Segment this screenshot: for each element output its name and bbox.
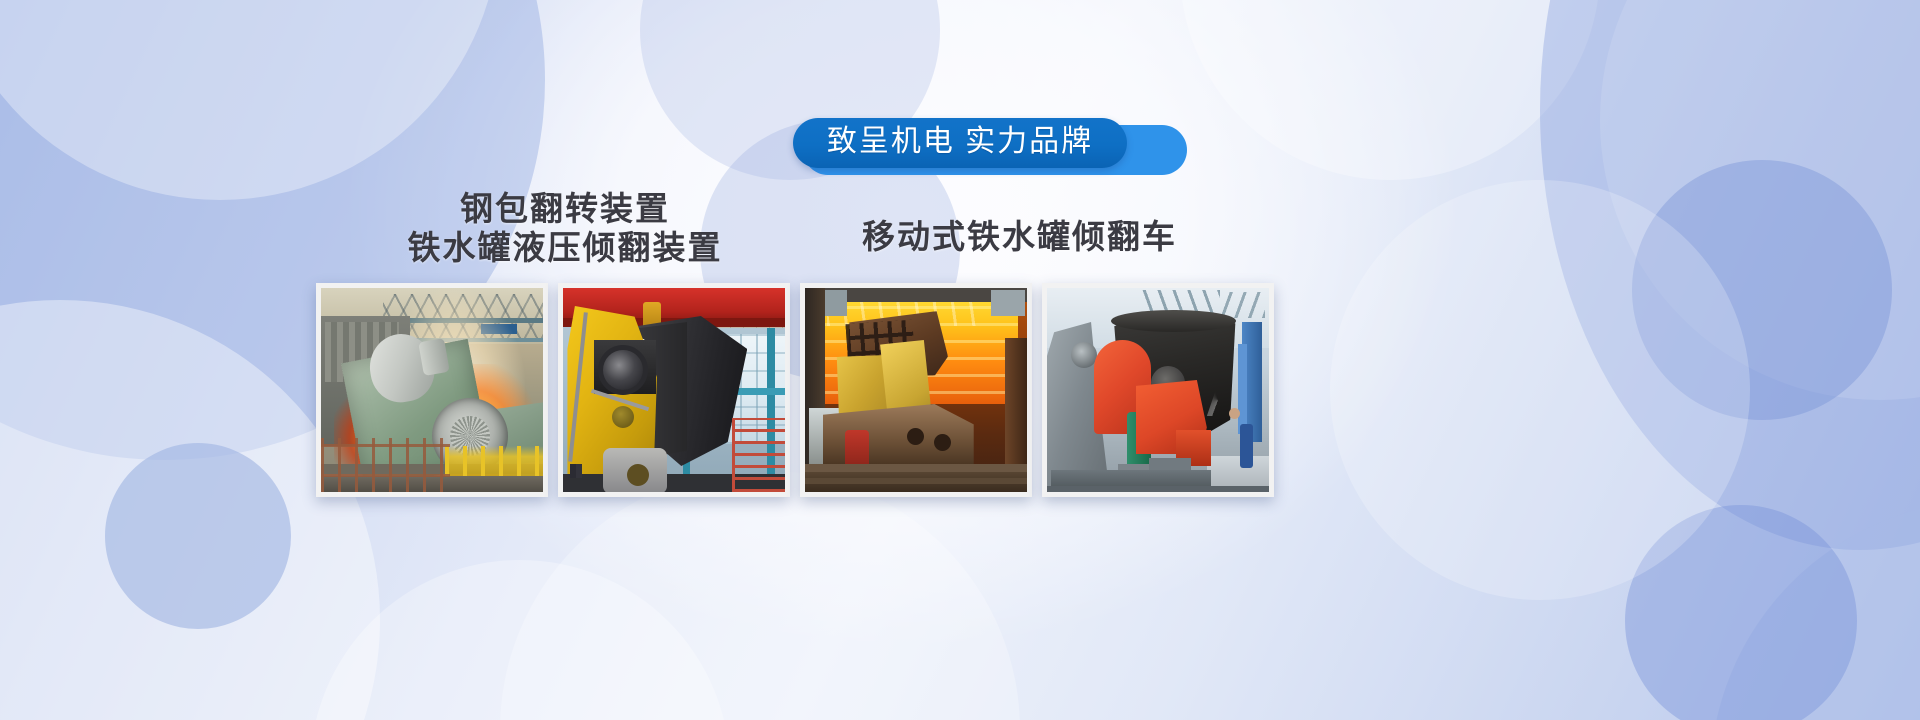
decor-circle-right-5	[1710, 500, 1920, 720]
decor-circle-center-3	[500, 470, 1020, 720]
decor-circle-right-2	[1600, 0, 1920, 400]
decor-circle-right-6	[1330, 180, 1750, 600]
decor-circle-left-2	[0, 0, 500, 200]
decor-circle-right-1	[1540, 0, 1920, 550]
photo-mobile-tilting-car-orange	[1047, 288, 1269, 492]
photo-mobile-tilting-car-furnace	[805, 288, 1027, 492]
brand-badge[interactable]: 致呈机电 实力品牌	[793, 118, 1127, 168]
heading-right-line1: 移动式铁水罐倾翻车	[862, 218, 1177, 255]
decor-circle-left-5	[310, 560, 730, 720]
heading-left-line1: 钢包翻转装置	[395, 190, 735, 229]
photo-ladle-tilter-furnace	[321, 288, 543, 492]
heading-left-line2: 铁水罐液压倾翻装置	[395, 229, 735, 268]
gallery-card-2[interactable]: 3	[558, 283, 790, 497]
brand-badge-wrapper: 致呈机电 实力品牌	[0, 118, 1920, 168]
heading-left: 钢包翻转装置 铁水罐液压倾翻装置	[395, 190, 735, 268]
gallery-card-3[interactable]	[800, 283, 1032, 497]
photo-gallery: 3	[316, 283, 1274, 497]
photo-hydraulic-tilting-device: 3	[563, 288, 785, 492]
heading-right: 移动式铁水罐倾翻车	[862, 218, 1177, 257]
decor-circle-right-3	[1632, 160, 1892, 420]
decor-circle-left-3	[105, 443, 291, 629]
gallery-card-4[interactable]	[1042, 283, 1274, 497]
gallery-card-1[interactable]	[316, 283, 548, 497]
banner-root: 致呈机电 实力品牌 钢包翻转装置 铁水罐液压倾翻装置 移动式铁水罐倾翻车	[0, 0, 1920, 720]
decor-circle-right-4	[1625, 505, 1857, 720]
brand-badge-label: 致呈机电 实力品牌	[827, 127, 1093, 157]
